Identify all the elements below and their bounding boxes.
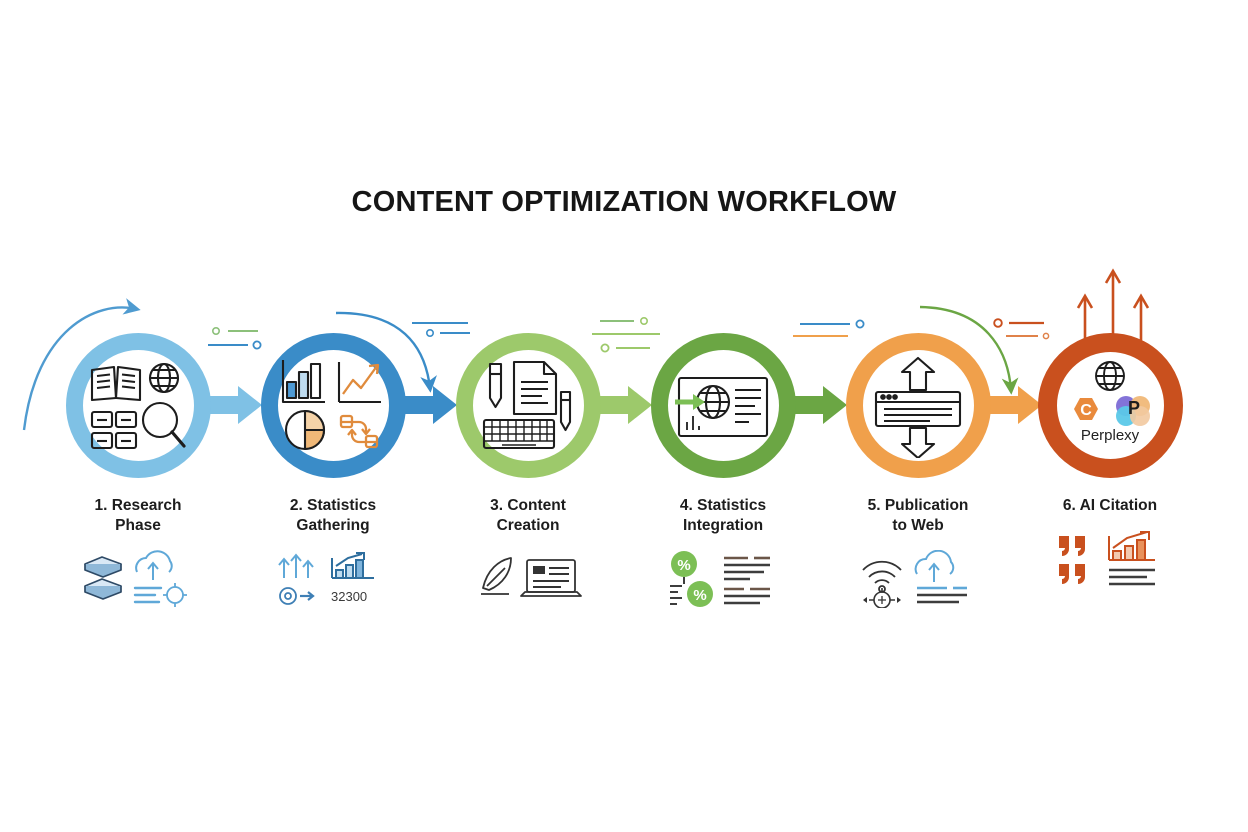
step2-sub-value: 32300 <box>331 589 367 604</box>
wifi-icon <box>863 562 901 592</box>
step6-label: 6. AI Citation <box>1010 496 1210 516</box>
sync-arrows-icon <box>341 416 377 447</box>
pie-chart-icon <box>286 411 324 449</box>
step-publication-to-web[interactable]: 5. Publication to Web <box>818 333 1018 610</box>
svg-text:P: P <box>1128 398 1140 418</box>
globe-document-icon <box>679 378 767 436</box>
svg-text:%: % <box>693 587 706 604</box>
globe-icon <box>150 364 178 392</box>
step-research-phase[interactable]: 1. Research Phase <box>38 333 238 610</box>
layers-icon <box>85 557 121 599</box>
step6-brand-label: Perplexy <box>1081 427 1140 444</box>
magnifier-icon <box>143 403 184 446</box>
bar-chart-icon <box>687 416 699 430</box>
step5-icon-group <box>866 354 970 458</box>
document-icon <box>514 362 556 414</box>
step2-circle <box>261 333 406 478</box>
claude-hexagon-icon: C <box>1074 398 1098 420</box>
line-chart-icon <box>339 362 381 402</box>
step-content-creation[interactable]: 3. Content Creation <box>428 333 628 610</box>
arrow-up-icon <box>902 358 934 390</box>
step5-label: 5. Publication to Web <box>818 496 1018 536</box>
step4-icon-group <box>671 354 775 458</box>
step-ai-citation[interactable]: C P Perplexy 6. AI Citation <box>1010 333 1210 590</box>
globe-icon <box>1096 362 1124 390</box>
target-icon <box>863 588 901 608</box>
arrow-down-icon <box>902 428 934 458</box>
quote-mark-icon <box>1059 536 1085 584</box>
step2-label: 2. Statistics Gathering <box>233 496 433 536</box>
browser-window-icon <box>876 392 960 426</box>
step6-icon-group: C P Perplexy <box>1058 354 1162 458</box>
text-lines-icon <box>1109 570 1155 584</box>
step2-icon-group <box>281 354 385 458</box>
workflow-diagram: CONTENT OPTIMIZATION WORKFLOW <box>0 0 1248 832</box>
step4-label: 4. Statistics Integration <box>623 496 823 536</box>
svg-text:C: C <box>1080 402 1092 419</box>
card-grid-icon <box>92 412 136 448</box>
pen-icon <box>490 364 501 407</box>
step3-label: 3. Content Creation <box>428 496 628 536</box>
gear-arrow-icon <box>280 588 313 604</box>
bar-chart-icon <box>283 360 325 402</box>
growth-chart-icon <box>332 553 374 578</box>
quill-icon <box>481 558 511 594</box>
perplexity-logo-icon: P <box>1116 396 1150 426</box>
refresh-icon <box>163 583 187 607</box>
svg-text:%: % <box>677 557 690 574</box>
percent-badge-icon: % % <box>670 551 713 607</box>
laptop-icon <box>521 560 581 596</box>
pencil-icon <box>561 392 570 430</box>
text-lines-icon <box>917 588 967 602</box>
open-book-icon <box>92 367 140 400</box>
step1-sub-icons <box>38 550 238 610</box>
cloud-upload-icon <box>916 551 954 582</box>
step5-circle <box>846 333 991 478</box>
step1-label: 1. Research Phase <box>38 496 238 536</box>
growth-chart-icon <box>1109 532 1155 560</box>
step1-circle <box>66 333 211 478</box>
keyboard-icon <box>484 420 554 448</box>
step3-icon-group <box>476 354 580 458</box>
list-icon <box>135 588 161 602</box>
up-arrows-icon <box>279 555 313 578</box>
step6-sub-icons <box>1010 530 1210 590</box>
step5-sub-icons <box>818 550 1018 610</box>
step1-icon-group <box>86 354 190 458</box>
text-lines-icon <box>735 390 761 422</box>
step2-sub-icons: 32300 <box>233 550 433 610</box>
step4-sub-icons: % % <box>623 550 823 610</box>
step3-sub-icons <box>428 550 628 610</box>
cloud-upload-icon <box>136 551 172 580</box>
step3-circle <box>456 333 601 478</box>
step4-circle <box>651 333 796 478</box>
step-statistics-gathering[interactable]: 2. Statistics Gathering <box>233 333 433 610</box>
text-lines-icon <box>724 558 770 603</box>
step-statistics-integration[interactable]: 4. Statistics Integration % % <box>623 333 823 610</box>
step6-circle: C P Perplexy <box>1038 333 1183 478</box>
